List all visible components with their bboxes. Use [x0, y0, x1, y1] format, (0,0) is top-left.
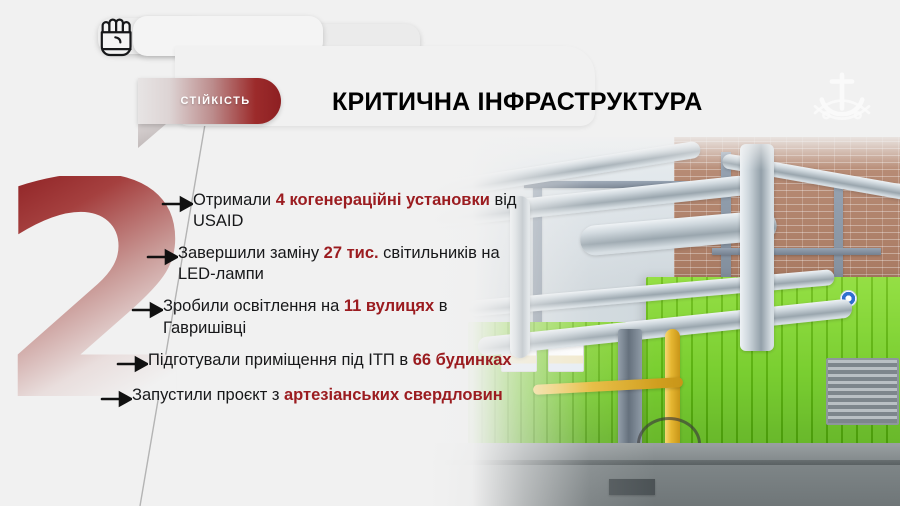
bullet-text: Зробили освітлення на 11 вулицях в Гаври… — [163, 296, 520, 338]
bullet-text: Завершили заміну 27 тис. світильників на… — [178, 243, 520, 285]
arrow-right-icon — [146, 247, 178, 267]
arrow-right-icon — [161, 194, 193, 214]
photo-louver-vent — [826, 358, 898, 425]
bullet-item: Завершили заміну 27 тис. світильників на… — [0, 243, 520, 285]
anchor-with-sabers-icon — [806, 68, 878, 140]
bullet-list: Отримали 4 когенераційні установки від U… — [0, 190, 520, 420]
ribbon-label: СТІЙКІСТЬ — [180, 95, 250, 107]
bullet-text: Запустили проєкт з артезіанських свердло… — [132, 385, 503, 406]
bullet-plain: Завершили заміну — [178, 244, 324, 262]
slide-root: 2 СТІЙКІСТЬ КРИТИЧНА ІНФРАСТРУКТУРА — [0, 0, 900, 506]
raised-fist-icon — [90, 12, 144, 66]
bullet-text: Підготували приміщення під ІТП в 66 буди… — [148, 350, 512, 371]
bullet-highlight: артезіанських свердловин — [284, 386, 503, 404]
photo-ground — [430, 443, 900, 506]
bullet-highlight: 66 будинках — [413, 351, 512, 369]
bullet-text: Отримали 4 когенераційні установки від U… — [193, 190, 520, 232]
bullet-item: Запустили проєкт з артезіанських свердло… — [0, 385, 520, 409]
bullet-highlight: 4 когенераційні установки — [276, 191, 490, 209]
page-title: КРИТИЧНА ІНФРАСТРУКТУРА — [332, 88, 702, 117]
bullet-plain: Запустили проєкт з — [132, 386, 284, 404]
bullet-item: Підготували приміщення під ІТП в 66 буди… — [0, 350, 520, 374]
bullet-plain: Підготували приміщення під ІТП в — [148, 351, 413, 369]
bullet-highlight: 11 вулицях — [344, 297, 434, 315]
photo-frame-beam-2 — [712, 248, 881, 255]
arrow-right-icon — [131, 300, 163, 320]
arrow-right-icon — [100, 389, 132, 409]
bullet-item: Отримали 4 когенераційні установки від U… — [0, 190, 520, 232]
arrow-right-icon — [116, 354, 148, 374]
bullet-item: Зробили освітлення на 11 вулицях в Гаври… — [0, 296, 520, 338]
photo-base-plinth — [609, 479, 655, 495]
bullet-plain: Отримали — [193, 191, 276, 209]
bullet-highlight: 27 тис. — [324, 244, 379, 262]
bullet-plain: Зробили освітлення на — [163, 297, 344, 315]
photo-vertical-duct — [740, 144, 774, 351]
section-ribbon: СТІЙКІСТЬ — [138, 78, 281, 124]
